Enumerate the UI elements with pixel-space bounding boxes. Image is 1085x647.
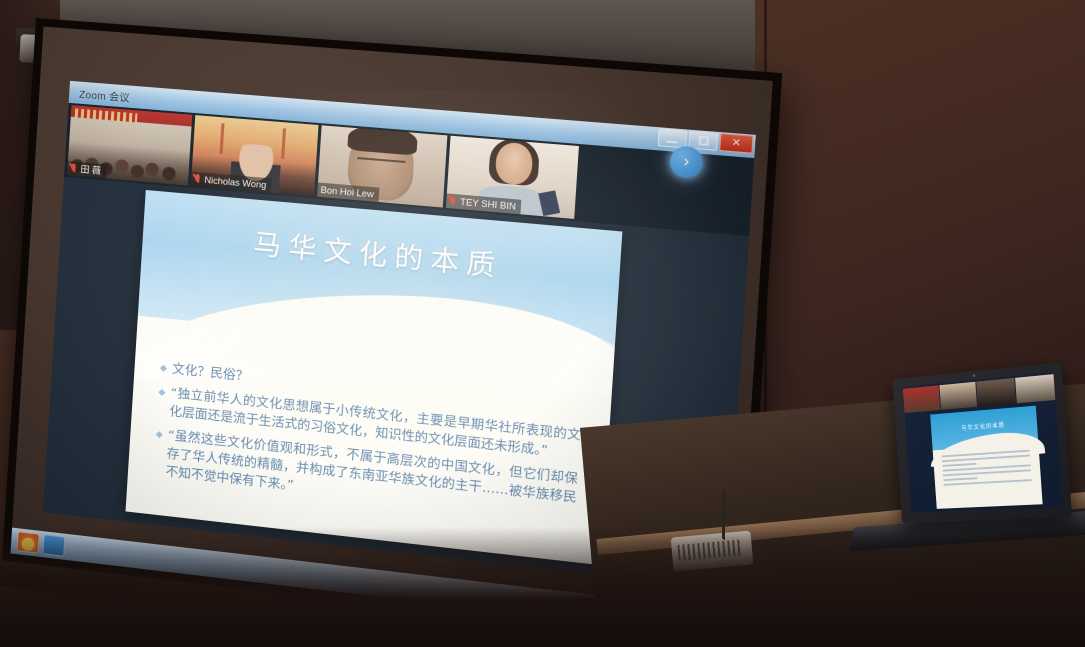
- right-wall-panel: [755, 0, 1085, 420]
- laptop-lid: 马华文化的本质: [892, 362, 1072, 523]
- hall-banner: [75, 108, 138, 122]
- laptop-participant-tile: [1015, 374, 1056, 403]
- participant-tile[interactable]: 田 薇: [67, 105, 192, 185]
- mic-muted-icon: [194, 174, 202, 185]
- laptop-participant-tile: [976, 378, 1015, 407]
- zoom-window-title: Zoom 会议: [69, 84, 130, 104]
- laptop-slide: 马华文化的本质: [930, 406, 1042, 509]
- maximize-icon: [698, 136, 709, 146]
- text-line: [942, 463, 976, 467]
- laptop-participant-tile: [939, 382, 977, 410]
- participant-tile-active-speaker[interactable]: Bon Hoi Lew: [317, 125, 447, 207]
- bullet-dot-icon: [160, 365, 167, 372]
- webcam-icon: [973, 374, 976, 377]
- bullet-dot-icon: [158, 389, 165, 396]
- laptop-screen[interactable]: 马华文化的本质: [903, 372, 1063, 513]
- text-line: [943, 477, 977, 481]
- conference-room-photo: 录制 Zoom 会议 ✕: [0, 0, 1085, 647]
- participant-name-tag: 田 薇: [67, 161, 106, 178]
- laptop-participant-tile: [903, 385, 940, 413]
- participant-name: TEY SHI BIN: [460, 196, 517, 213]
- virtual-bg-tower: [219, 123, 224, 154]
- close-button[interactable]: ✕: [719, 133, 753, 154]
- participant-name: 田 薇: [80, 163, 101, 177]
- floor-shadow: [0, 527, 1085, 647]
- handheld-device: [538, 190, 560, 216]
- bullet-dot-icon: [156, 431, 163, 438]
- participant-tile[interactable]: Nicholas Wong: [191, 115, 319, 196]
- participant-tile[interactable]: TEY SHI BIN: [446, 136, 579, 219]
- window-controls: ✕: [658, 128, 754, 153]
- minimize-icon: [667, 140, 678, 143]
- mic-muted-icon: [70, 163, 78, 174]
- mic-muted-icon: [449, 196, 457, 207]
- participant-name: Nicholas Wong: [204, 174, 267, 191]
- laptop-slide-body: [942, 450, 1032, 489]
- shared-powerpoint-slide[interactable]: 马华文化的本质 文化？民俗？ “独立前华人的文化思想属于小传统文化，主要是早期华…: [125, 190, 622, 565]
- virtual-bg-tower: [281, 128, 286, 159]
- participant-name: Bon Hoi Lew: [320, 184, 374, 201]
